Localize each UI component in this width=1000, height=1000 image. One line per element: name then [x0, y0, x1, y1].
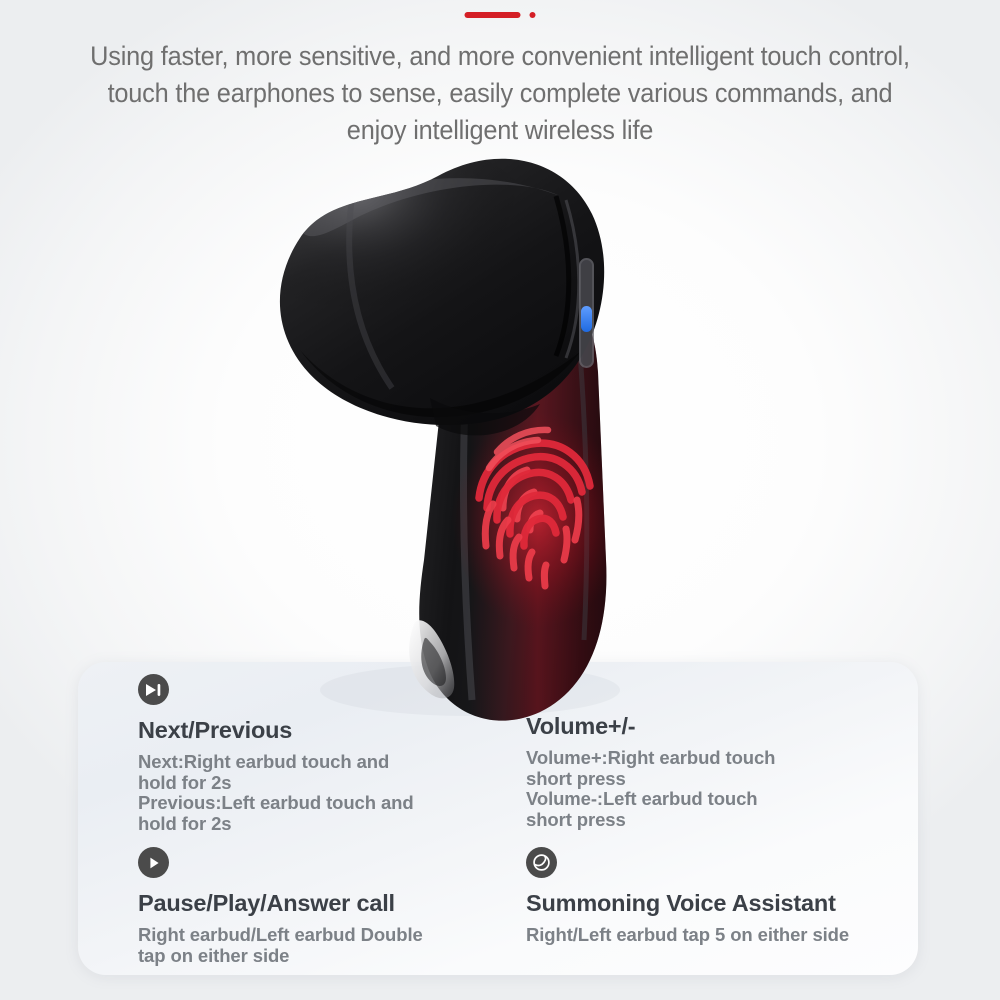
earbud-head — [250, 140, 604, 425]
red-rule-dot — [530, 12, 536, 18]
red-rule-bar — [465, 12, 521, 18]
touch-sensor-fingerprint — [479, 430, 590, 586]
product-feature-image: Using faster, more sensitive, and more c… — [0, 0, 1000, 1000]
feature-description: Next:Right earbud touch and hold for 2s … — [138, 752, 528, 834]
feature-volume: ± Volume+/- Volume+:Right earbud touch s… — [526, 670, 906, 830]
led-indicator — [579, 258, 594, 368]
feature-description: Volume+:Right earbud touch short press V… — [526, 748, 906, 830]
feature-description: Right earbud/Left earbud Double tap on e… — [138, 925, 528, 966]
next-track-icon — [138, 674, 169, 705]
feature-title: Volume+/- — [526, 713, 906, 740]
feature-voice-assistant: Summoning Voice Assistant Right/Left ear… — [526, 847, 906, 946]
play-icon — [138, 847, 169, 878]
feature-title: Summoning Voice Assistant — [526, 890, 906, 917]
feature-title: Next/Previous — [138, 717, 528, 744]
headline-line-1: Using faster, more sensitive, and more c… — [23, 38, 978, 75]
feature-pause-play: Pause/Play/Answer call Right earbud/Left… — [138, 847, 528, 966]
feature-title: Pause/Play/Answer call — [138, 890, 528, 917]
headline-line-3: enjoy intelligent wireless life — [23, 112, 978, 149]
headline-line-2: touch the earphones to sense, easily com… — [23, 75, 978, 112]
plus-minus-icon: ± — [526, 670, 557, 701]
decorative-divider — [465, 12, 536, 18]
voice-assistant-icon — [526, 847, 557, 878]
headline: Using faster, more sensitive, and more c… — [23, 38, 978, 149]
feature-next-previous: Next/Previous Next:Right earbud touch an… — [138, 674, 528, 834]
feature-description: Right/Left earbud tap 5 on either side — [526, 925, 906, 946]
controls-panel: Next/Previous Next:Right earbud touch an… — [78, 662, 918, 975]
